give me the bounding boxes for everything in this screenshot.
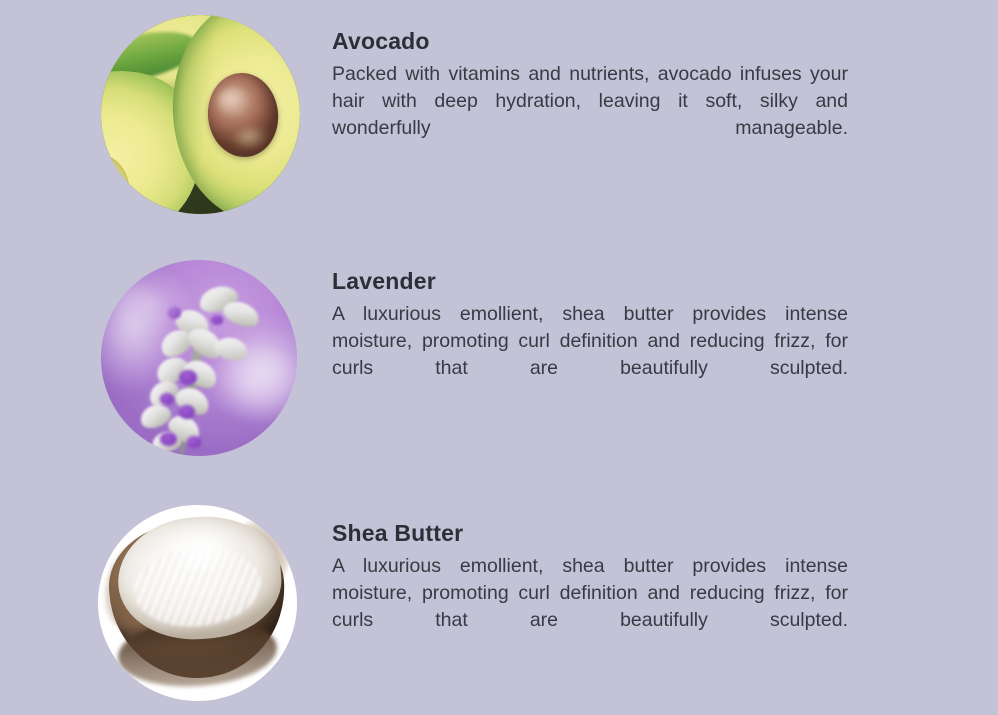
ingredient-item-lavender: Lavender A luxurious emollient, shea but… <box>0 260 998 456</box>
avocado-halves-photo <box>101 15 300 214</box>
lavender-sprig-photo <box>101 260 297 456</box>
ingredient-media-avocado <box>0 15 332 215</box>
ingredient-description: A luxurious emollient, shea butter provi… <box>332 553 848 661</box>
ingredient-title: Avocado <box>332 29 848 54</box>
ingredient-description: A luxurious emollient, shea butter provi… <box>332 301 848 409</box>
ingredient-text-shea: Shea Butter A luxurious emollient, shea … <box>332 505 848 661</box>
shea-butter-nut-photo <box>98 505 297 701</box>
ingredient-title: Lavender <box>332 269 848 294</box>
ingredient-item-shea: Shea Butter A luxurious emollient, shea … <box>0 505 998 701</box>
ingredient-description: Packed with vitamins and nutrients, avoc… <box>332 61 848 169</box>
ingredient-text-lavender: Lavender A luxurious emollient, shea but… <box>332 260 848 409</box>
ingredient-media-lavender <box>0 260 332 456</box>
ingredient-text-avocado: Avocado Packed with vitamins and nutrien… <box>332 15 848 169</box>
ingredient-title: Shea Butter <box>332 521 848 546</box>
ingredient-media-shea <box>0 505 332 701</box>
ingredients-page: Avocado Packed with vitamins and nutrien… <box>0 0 998 715</box>
ingredient-item-avocado: Avocado Packed with vitamins and nutrien… <box>0 15 998 215</box>
